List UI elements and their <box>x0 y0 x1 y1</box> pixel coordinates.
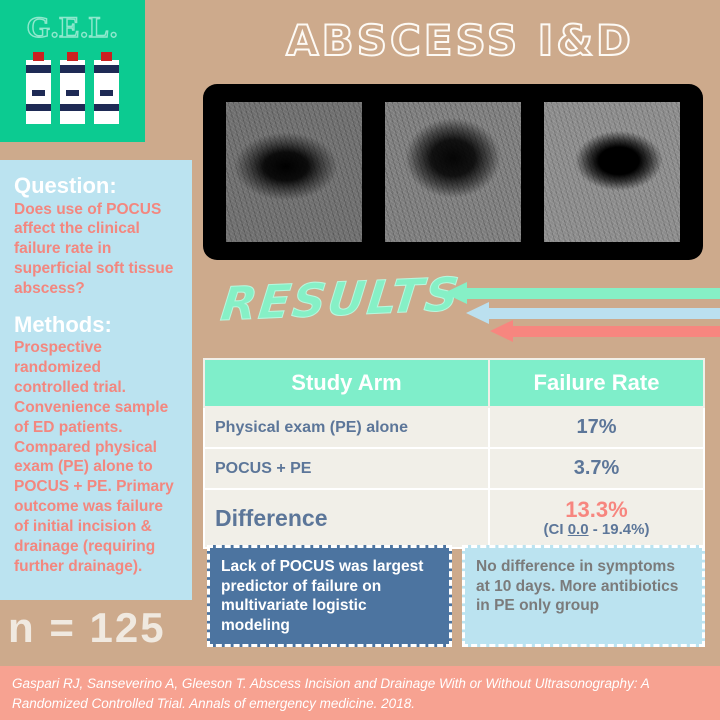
table-row: Difference 13.3% (CI 0.0 - 19.4%) <box>204 489 704 548</box>
callout-symptoms: No difference in symptoms at 10 days. Mo… <box>462 545 705 647</box>
question-heading: Question: <box>14 174 178 199</box>
methods-heading: Methods: <box>14 313 178 338</box>
cell-rate-pe-alone: 17% <box>489 407 704 448</box>
bottle-band-top <box>94 65 119 73</box>
bottle-band-bottom <box>94 104 119 111</box>
bottle-band-top <box>60 65 85 73</box>
gel-bottle-icon <box>26 52 51 124</box>
table-header-row: Study Arm Failure Rate <box>204 359 704 407</box>
cell-rate-pocus-pe: 3.7% <box>489 448 704 489</box>
ci-low: 0.0 <box>568 521 589 538</box>
page-title: ABSCESS I&D <box>200 16 720 65</box>
ultrasound-image-2 <box>385 102 521 242</box>
bottle-label <box>32 90 45 96</box>
arrow-shaft <box>466 288 720 299</box>
bottle-band-bottom <box>60 104 85 111</box>
results-heading: RESULTS <box>218 267 463 331</box>
bottle-band-top <box>26 65 51 73</box>
bottle-cap <box>33 52 44 61</box>
gel-bottle-icon <box>60 52 85 124</box>
cell-arm-pocus-pe: POCUS + PE <box>204 448 489 489</box>
gel-bottles-icon <box>0 52 145 132</box>
arrow-head <box>466 302 489 324</box>
ultrasound-speckle <box>385 102 521 242</box>
difference-value: 13.3% <box>500 498 693 521</box>
sidebar: Question: Does use of POCUS affect the c… <box>0 160 192 600</box>
sample-size-label: n = 125 <box>8 604 166 652</box>
difference-ci: (CI 0.0 - 19.4%) <box>500 521 693 539</box>
callout-pocus-predictor: Lack of POCUS was largest predictor of f… <box>207 545 452 647</box>
arrow-shaft <box>488 308 720 319</box>
arrow-head <box>490 320 513 342</box>
ultrasound-speckle <box>226 102 362 242</box>
cell-arm-difference: Difference <box>204 489 489 548</box>
question-body: Does use of POCUS affect the clinical fa… <box>14 200 178 299</box>
table-row: POCUS + PE 3.7% <box>204 448 704 489</box>
table-row: Physical exam (PE) alone 17% <box>204 407 704 448</box>
bottle-cap <box>101 52 112 61</box>
ci-prefix: (CI <box>544 521 568 538</box>
logo-text: G.E.L. <box>0 11 145 45</box>
results-table: Study Arm Failure Rate Physical exam (PE… <box>203 358 705 549</box>
ultrasound-speckle <box>544 102 680 242</box>
arrow-head <box>444 282 467 304</box>
column-header-study-arm: Study Arm <box>204 359 489 407</box>
footer-citation: Gaspari RJ, Sanseverino A, Gleeson T. Ab… <box>0 666 720 720</box>
arrow-shaft <box>512 326 720 337</box>
ultrasound-image-3 <box>544 102 680 242</box>
bottle-cap <box>67 52 78 61</box>
logo-block: G.E.L. <box>0 0 145 142</box>
methods-body: Prospective randomized controlled trial.… <box>14 338 178 576</box>
ultrasound-image-1 <box>226 102 362 242</box>
ci-sep: - <box>589 521 602 538</box>
bottle-band-bottom <box>26 104 51 111</box>
cell-arm-pe-alone: Physical exam (PE) alone <box>204 407 489 448</box>
gel-bottle-icon <box>94 52 119 124</box>
infographic-page: G.E.L. <box>0 0 720 720</box>
bottle-label <box>66 90 79 96</box>
column-header-failure-rate: Failure Rate <box>489 359 704 407</box>
ci-high: 19.4%) <box>602 521 650 538</box>
bottle-label <box>100 90 113 96</box>
cell-rate-difference: 13.3% (CI 0.0 - 19.4%) <box>489 489 704 548</box>
ultrasound-images-panel <box>203 84 703 260</box>
